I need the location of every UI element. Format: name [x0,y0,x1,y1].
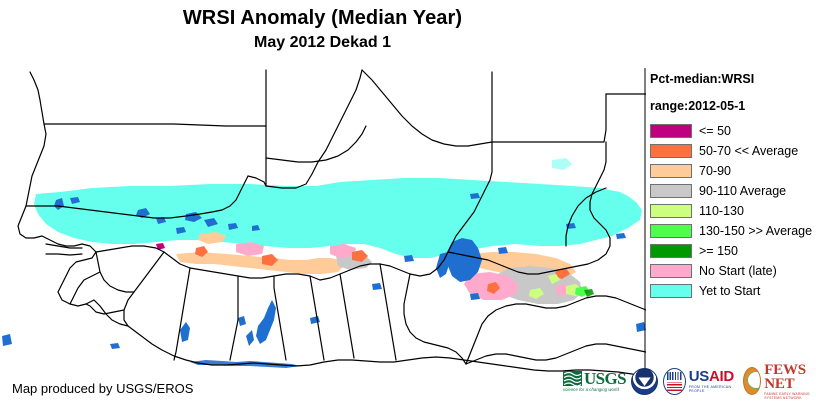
legend-swatch [650,224,692,238]
legend-range: range:2012-05-1 [650,99,816,113]
noaa-seal-icon [631,368,658,395]
usaid-tagline: FROM THE AMERICAN PEOPLE [689,385,739,393]
usgs-wordmark: USGS [584,371,626,386]
legend-item-label: <= 50 [699,124,731,138]
legend-item-label: 50-70 << Average [699,144,798,158]
title-block: WRSI Anomaly (Median Year) May 2012 Deka… [0,6,645,53]
legend-item-lte-50[interactable]: <= 50 [650,122,816,139]
legend-item-label: 70-90 [699,164,731,178]
legend-swatch [650,164,692,178]
fewsnet-wordmark: FEWS NET [764,363,816,391]
map-panel[interactable] [0,68,646,380]
usaid-wordmark: USAID [689,370,739,384]
usaid-seal-icon [663,368,686,395]
legend-item-label: 90-110 Average [699,184,786,198]
usgs-tagline: science for a changing world [563,387,626,392]
legend-item-gte-150[interactable]: >= 150 [650,242,816,259]
legend-swatch [650,264,692,278]
legend-swatch [650,184,692,198]
legend-item-110-130[interactable]: 110-130 [650,202,816,219]
legend-item-label: Yet to Start [699,284,760,298]
legend-item-90-110[interactable]: 90-110 Average [650,182,816,199]
legend-item-70-90[interactable]: 70-90 [650,162,816,179]
legend-title: Pct-median:WRSI [650,72,816,86]
noaa-logo [631,364,658,398]
page-title: WRSI Anomaly (Median Year) [0,6,645,30]
legend-item-130-150[interactable]: 130-150 >> Average [650,222,816,239]
fewsnet-tagline: FAMINE EARLY WARNING SYSTEMS NETWORK [764,392,816,400]
legend-item-50-70[interactable]: 50-70 << Average [650,142,816,159]
legend-swatch [650,244,692,258]
fewsnet-logo: FEWS NET FAMINE EARLY WARNING SYSTEMS NE… [743,364,816,398]
usaid-word-us: US [689,368,709,385]
usgs-wave-icon [563,371,582,386]
map-credit: Map produced by USGS/EROS [12,381,193,397]
legend-item-label: 130-150 >> Average [699,224,812,238]
legend-item-label: No Start (late) [699,264,777,278]
legend-item-label: >= 150 [699,244,738,258]
legend-swatch [650,284,692,298]
usgs-logo: USGS science for a changing world [563,364,626,398]
legend-item-yet-to-start[interactable]: Yet to Start [650,282,816,299]
legend-panel: Pct-median:WRSI range:2012-05-1 <= 50 50… [650,72,816,302]
logo-bar: USGS science for a changing world USAID … [563,363,813,399]
legend-swatch [650,144,692,158]
usaid-word-aid: AID [709,368,734,385]
usaid-logo: USAID FROM THE AMERICAN PEOPLE [663,364,738,398]
page-subtitle: May 2012 Dekad 1 [0,33,645,53]
west-africa-map[interactable] [0,68,646,380]
legend-swatch [650,124,692,138]
legend-item-label: 110-130 [699,204,744,218]
legend-item-no-start[interactable]: No Start (late) [650,262,816,279]
legend-swatch [650,204,692,218]
fewsnet-globe-icon [743,367,761,395]
